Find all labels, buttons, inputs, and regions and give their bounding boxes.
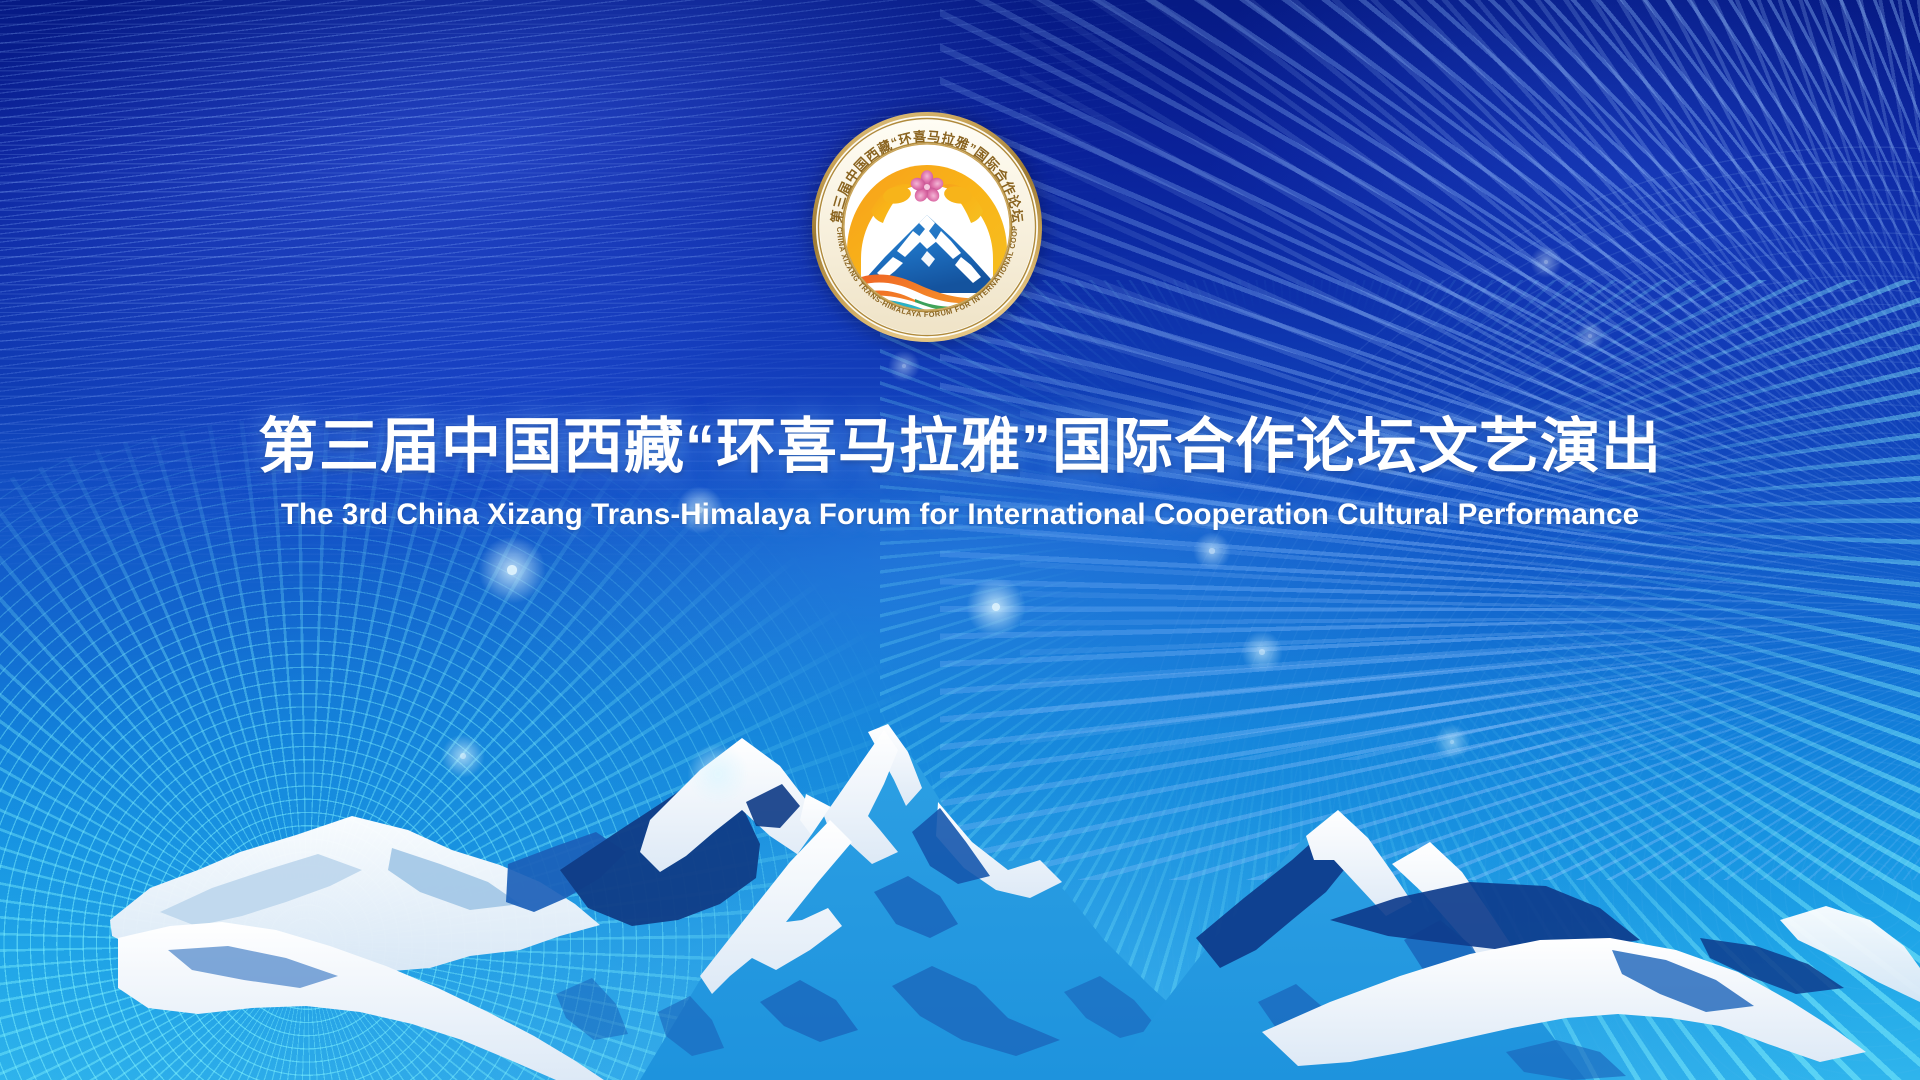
flowing-line-ribbon-secondary — [0, 0, 1404, 665]
glow-particle — [1588, 334, 1592, 338]
poster-canvas: 第三届中国西藏“环喜马拉雅”国际合作论坛 THE 3RD CHINA XIZAN… — [0, 0, 1920, 1080]
glow-particle — [902, 364, 906, 368]
glow-particle — [992, 603, 1000, 611]
flowing-line-ribbon-primary — [0, 0, 1372, 723]
page-subtitle-english: The 3rd China Xizang Trans-Himalaya Foru… — [0, 496, 1920, 534]
forum-emblem: 第三届中国西藏“环喜马拉雅”国际合作论坛 THE 3RD CHINA XIZAN… — [811, 111, 1043, 343]
snow-mountain-range — [0, 620, 1920, 1080]
title-block: 第三届中国西藏“环喜马拉雅”国际合作论坛文艺演出 The 3rd China X… — [0, 408, 1920, 534]
glow-particle — [507, 565, 516, 574]
page-title-chinese: 第三届中国西藏“环喜马拉雅”国际合作论坛文艺演出 — [0, 408, 1920, 486]
swoosh-highlight-upper-right — [970, 0, 1920, 685]
glow-particle — [1209, 548, 1214, 553]
glow-particle — [1544, 260, 1548, 264]
